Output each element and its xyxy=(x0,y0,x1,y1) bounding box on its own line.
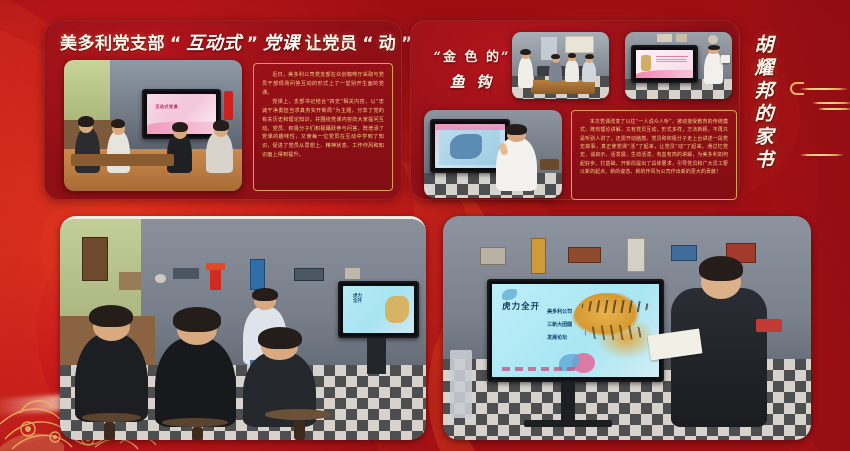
headline-part2: 党课 xyxy=(263,35,300,53)
article-left-paragraph-1: 近日，美多利公司党支部在众创咖啡厅采取与党员干部现场问答互动的形式上了一堂别开生… xyxy=(262,71,384,97)
vertical-title-char-2: 耀 xyxy=(754,59,773,78)
headline-emphasis: 动 xyxy=(379,36,397,53)
photo-speaker-tiger-forum: 虎力全开 美多利公司 三新大团圆 发展论坛 xyxy=(443,216,811,440)
vertical-title-char-6: 书 xyxy=(754,151,773,170)
screen-content-middle xyxy=(435,124,505,169)
photo-golden-hook-story xyxy=(424,110,562,198)
screen-content-tiger-forum: 虎力全开 美多利公司 三新大团圆 发展论坛 xyxy=(492,284,659,377)
vertical-title-char-3: 邦 xyxy=(754,82,773,101)
page-title: 美多利党支部 “ 互动式 ” 党课 让党员 “ 动 ” 起来 xyxy=(60,30,396,58)
speaker-figure xyxy=(671,288,767,427)
headline-part1: 美多利党支部 xyxy=(60,36,165,53)
article-left-paragraph-2: 党课上，支部书记结合“四史”相关内容，以“忠诚干净勇担当求真务实开新局”为主题，… xyxy=(262,98,384,159)
photo-party-lesson-cafe: 互动式党课 xyxy=(64,60,242,191)
screen-content-bottom-left: 虎力全开 xyxy=(343,286,414,333)
tiger-screen-title: 虎力全开 xyxy=(502,302,542,313)
tiger-screen-subtitle-3: 发展论坛 xyxy=(547,334,567,341)
photo-members-discussion xyxy=(512,32,609,99)
headline-quote-close: ” xyxy=(247,34,258,54)
tiger-screen-subtitle-1: 美多利公司 xyxy=(547,308,572,315)
photo-audience-exhibition-hall: 虎力全开 xyxy=(60,216,426,440)
secondary-title-line1: “金 色 的” xyxy=(433,46,510,65)
secondary-title-golden-hook: “金 色 的” 鱼 钩 xyxy=(432,40,512,98)
vertical-title-char-1: 胡 xyxy=(754,36,773,55)
secondary-title-line2: 鱼 钩 xyxy=(450,71,494,92)
headline-quote-open: “ xyxy=(170,34,181,54)
headline-part3: 让党员 xyxy=(305,36,358,53)
headline-quote-open-2: “ xyxy=(362,34,373,54)
poster-root: 美多利党支部 “ 互动式 ” 党课 让党员 “ 动 ” 起来 互动式党课 xyxy=(0,0,850,451)
vertical-title-char-4: 的 xyxy=(754,105,773,124)
photo-presentation-screen xyxy=(625,32,732,99)
headline-script-word: 互动式 xyxy=(186,35,242,53)
vertical-title-hu-yaobang-letter: 胡 耀 邦 的 家 书 xyxy=(744,36,784,196)
article-text-right: 本次党课改变了以往“一人说众人听”、被动接受教育的传统模式，既有理论讲解，又有党… xyxy=(571,110,737,200)
tiger-screen-subtitle-2: 三新大团圆 xyxy=(547,321,572,328)
vertical-title-char-5: 家 xyxy=(754,128,773,147)
article-text-left: 近日，美多利公司党支部在众创咖啡厅采取与党员干部现场问答互动的形式上了一堂别开生… xyxy=(253,63,393,191)
screen-content-top-right xyxy=(636,50,692,78)
article-right-paragraph-1: 本次党课改变了以往“一人说众人听”、被动接受教育的传统模式，既有理论讲解，又有党… xyxy=(580,118,728,176)
